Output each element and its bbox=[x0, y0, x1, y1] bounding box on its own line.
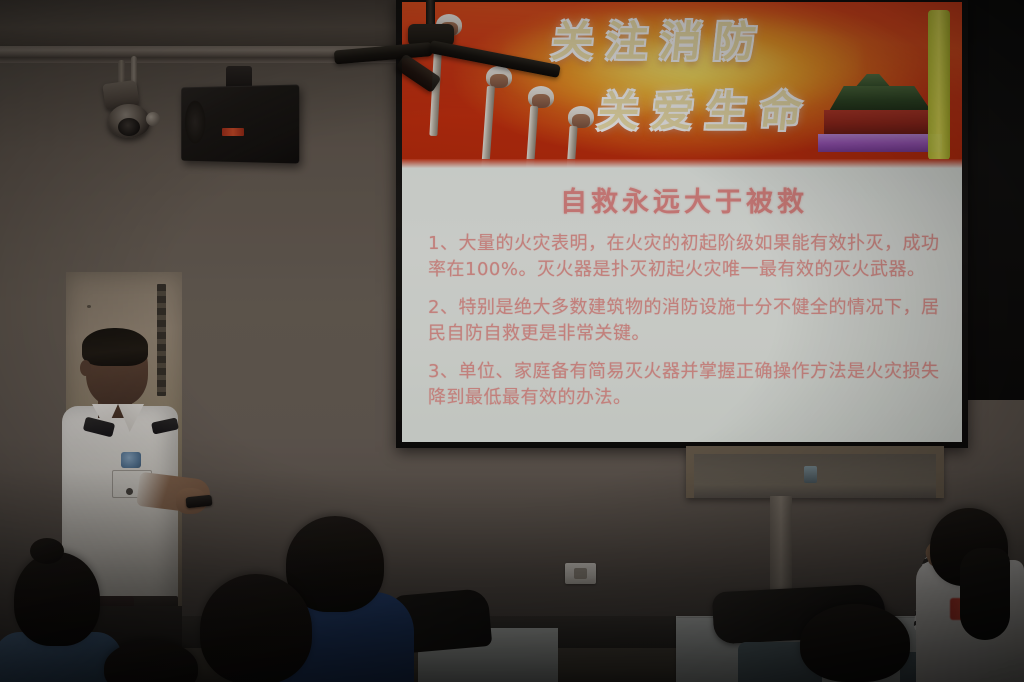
wall-speck bbox=[87, 305, 91, 308]
presenter-badge bbox=[121, 452, 141, 468]
power-socket-icon bbox=[565, 563, 596, 584]
banner-line-2: 关爱生命 bbox=[595, 78, 817, 139]
audience-head bbox=[200, 574, 312, 682]
projection-screen-frame: 关注消防 关爱生命 自救永远大于被救 1、大量的火灾表明，在火灾的初起阶级如果能… bbox=[396, 0, 968, 448]
banner-line-1: 关注消防 bbox=[549, 8, 771, 69]
board-clip bbox=[804, 466, 817, 483]
camera-knob bbox=[146, 112, 160, 126]
banner-title: 关注消防 关爱生命 bbox=[402, 2, 962, 168]
classroom-scene: 关注消防 关爱生命 自救永远大于被救 1、大量的火灾表明，在火灾的初起阶级如果能… bbox=[0, 0, 1024, 682]
projection-screen: 关注消防 关爱生命 自救永远大于被救 1、大量的火灾表明，在火灾的初起阶级如果能… bbox=[402, 2, 962, 442]
slide-paragraph-2: 2、特别是绝大多数建筑物的消防设施十分不健全的情况下，居民自防自救更是非常关键。 bbox=[428, 295, 940, 346]
wall-speaker-icon bbox=[181, 84, 299, 163]
speaker-brand-logo bbox=[222, 128, 244, 136]
door-hinge-strip bbox=[157, 284, 166, 396]
slide-title: 自救永远大于被救 bbox=[428, 180, 940, 219]
presenter-hair bbox=[82, 328, 148, 366]
audience-hair-bun bbox=[30, 538, 64, 564]
slide-paragraph-1: 1、大量的火灾表明，在火灾的初起阶级如果能有效扑灭，成功率在100%。灭火器是扑… bbox=[428, 231, 940, 282]
slide-paragraph-3: 3、单位、家庭备有简易灭火器并掌握正确操作方法是火灾损失降到最低最有效的办法。 bbox=[428, 359, 940, 410]
audience-head bbox=[800, 604, 910, 682]
presenter-ear bbox=[80, 360, 91, 376]
camera-lens-icon bbox=[118, 118, 140, 136]
slide-banner: 关注消防 关爱生命 bbox=[402, 2, 962, 168]
audience-long-hair bbox=[960, 548, 1010, 640]
presenter-button bbox=[126, 488, 133, 495]
audience-head bbox=[14, 552, 100, 646]
slide-body: 自救永远大于被救 1、大量的火灾表明，在火灾的初起阶级如果能有效扑灭，成功率在1… bbox=[402, 168, 962, 442]
blackboard bbox=[962, 0, 1024, 400]
banner-bottom-edge bbox=[402, 159, 962, 168]
